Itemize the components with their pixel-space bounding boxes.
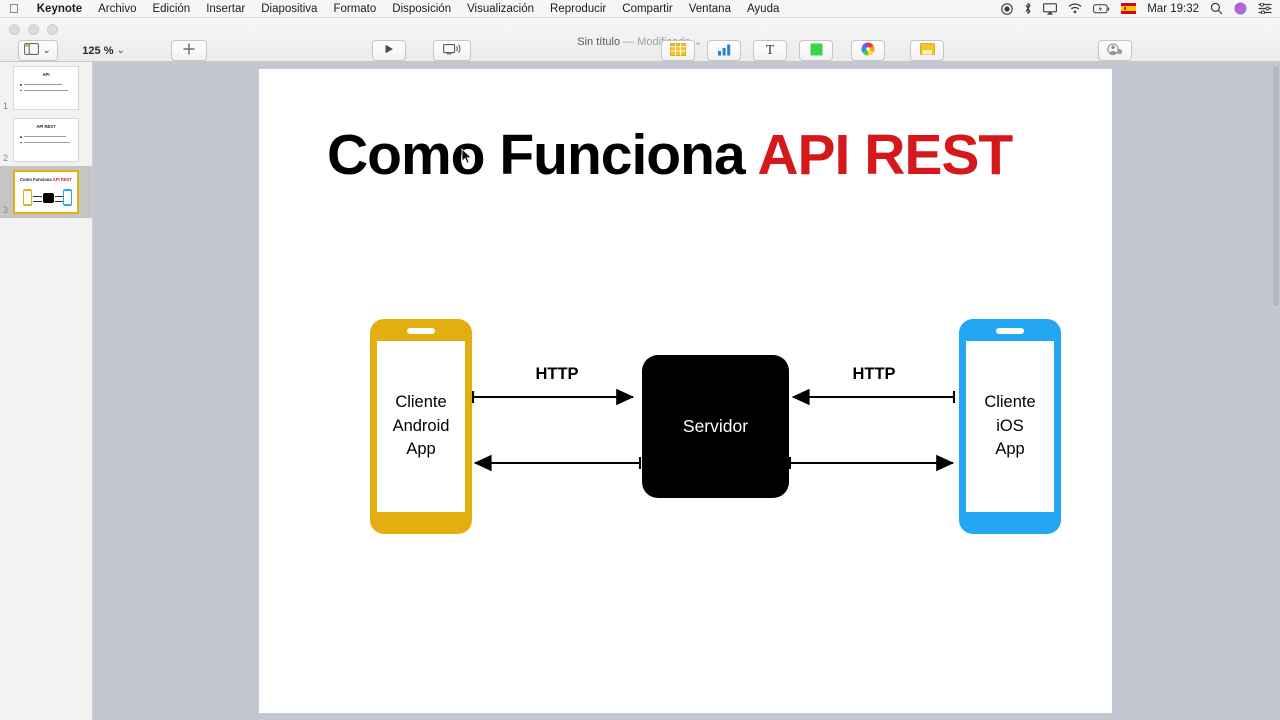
current-slide[interactable]: Como Funciona API REST Cliente Android A…	[259, 69, 1112, 713]
menu-item-reproducir[interactable]: Reproducir	[542, 3, 614, 15]
api-rest-diagram: Cliente Android App Cliente iOS App Serv…	[259, 69, 1112, 713]
document-separator: —	[623, 36, 634, 48]
zoom-value[interactable]: 125 %	[82, 45, 113, 57]
siri-icon[interactable]	[1234, 2, 1247, 15]
menu-item-disposicion[interactable]: Disposición	[384, 3, 459, 15]
minimize-button[interactable]	[28, 24, 39, 35]
arrow-server-to-ios	[790, 457, 953, 469]
spotlight-search-icon[interactable]	[1210, 2, 1223, 15]
document-title[interactable]: Sin título	[577, 36, 620, 48]
menu-item-ventana[interactable]: Ventana	[681, 3, 739, 15]
maximize-button[interactable]	[47, 24, 58, 35]
slide-number: 3	[3, 205, 8, 215]
apple-menu-icon[interactable]: 	[9, 2, 19, 15]
arrow-server-to-android	[475, 457, 641, 469]
thumbnail-title: API REST	[14, 124, 78, 129]
bar-chart-icon	[717, 43, 732, 59]
thumbnail-bullets	[20, 136, 72, 147]
spanish-flag-icon[interactable]	[1121, 3, 1136, 14]
menu-item-diapositiva[interactable]: Diapositiva	[253, 3, 325, 15]
menu-item-ayuda[interactable]: Ayuda	[739, 3, 787, 15]
thumbnail-diagram	[15, 185, 77, 213]
sticky-note-icon	[920, 43, 935, 58]
keynote-toolbar: Sin título — Modificado ⌄ ⌄ Visualizació…	[0, 18, 1280, 62]
arrow-android-to-server	[473, 391, 633, 403]
thumbnail-canvas: Como Funciona API REST	[13, 170, 79, 214]
color-wheel-icon	[861, 42, 875, 59]
thumbnail-canvas: API	[13, 66, 79, 110]
menu-item-edicion[interactable]: Edición	[144, 3, 198, 15]
thumbnail-bullets	[20, 84, 72, 95]
thumbnail-android-phone	[23, 189, 32, 206]
control-center-icon[interactable]	[1258, 3, 1272, 14]
thumbnail-canvas: API REST	[13, 118, 79, 162]
slide-thumbnail-2[interactable]: 2 API REST	[0, 114, 92, 166]
menu-item-compartir[interactable]: Compartir	[614, 3, 680, 15]
macos-menu-bar:  Keynote Archivo Edición Insertar Diapo…	[0, 0, 1280, 18]
thumbnail-title-black: Como Funciona	[20, 177, 53, 182]
arrow-ios-to-server	[793, 391, 955, 403]
chevron-down-icon: ⌄	[116, 45, 124, 56]
airplay-icon[interactable]	[1043, 3, 1057, 15]
diagram-arrows	[259, 69, 1112, 713]
thumbnail-title: Como Funciona API REST	[15, 177, 77, 182]
menu-item-formato[interactable]: Formato	[325, 3, 384, 15]
menu-item-insertar[interactable]: Insertar	[198, 3, 253, 15]
mouse-cursor	[461, 148, 473, 165]
menu-item-visualizacion[interactable]: Visualización	[459, 3, 542, 15]
close-button[interactable]	[9, 24, 20, 35]
battery-charging-icon[interactable]	[1093, 4, 1110, 14]
thumbnail-title-red: API REST	[53, 177, 72, 182]
window-controls[interactable]	[9, 24, 58, 35]
thumbnail-ios-phone	[63, 189, 72, 206]
text-T-icon: T	[766, 43, 775, 59]
slide-navigator[interactable]: 1 API 2 API REST 3 Como Funciona API RES…	[0, 62, 93, 720]
thumbnail-server	[43, 193, 54, 203]
slide-canvas-area[interactable]: Como Funciona API REST Cliente Android A…	[93, 62, 1280, 720]
menu-item-keynote[interactable]: Keynote	[29, 3, 90, 15]
play-triangle-icon	[383, 43, 395, 58]
chevron-down-icon: ⌄	[42, 45, 50, 56]
menu-clock[interactable]: Mar 19:32	[1147, 3, 1199, 15]
table-grid-icon	[670, 43, 686, 59]
canvas-vertical-scrollbar[interactable]	[1273, 66, 1279, 306]
collaborate-person-icon	[1107, 43, 1123, 59]
display-broadcast-icon	[443, 43, 461, 58]
slide-number: 2	[3, 153, 8, 163]
slide-thumbnail-1[interactable]: 1 API	[0, 62, 92, 114]
slide-thumbnail-3[interactable]: 3 Como Funciona API REST	[0, 166, 92, 218]
slide-number: 1	[3, 101, 8, 111]
thumbnail-title: API	[14, 72, 78, 77]
square-shape-icon	[810, 43, 823, 59]
screen-record-icon[interactable]	[1001, 3, 1013, 15]
view-layout-icon	[24, 43, 39, 58]
wifi-icon[interactable]	[1068, 3, 1082, 14]
bluetooth-icon[interactable]	[1024, 2, 1032, 15]
plus-icon	[182, 42, 196, 59]
menu-item-archivo[interactable]: Archivo	[90, 3, 144, 15]
